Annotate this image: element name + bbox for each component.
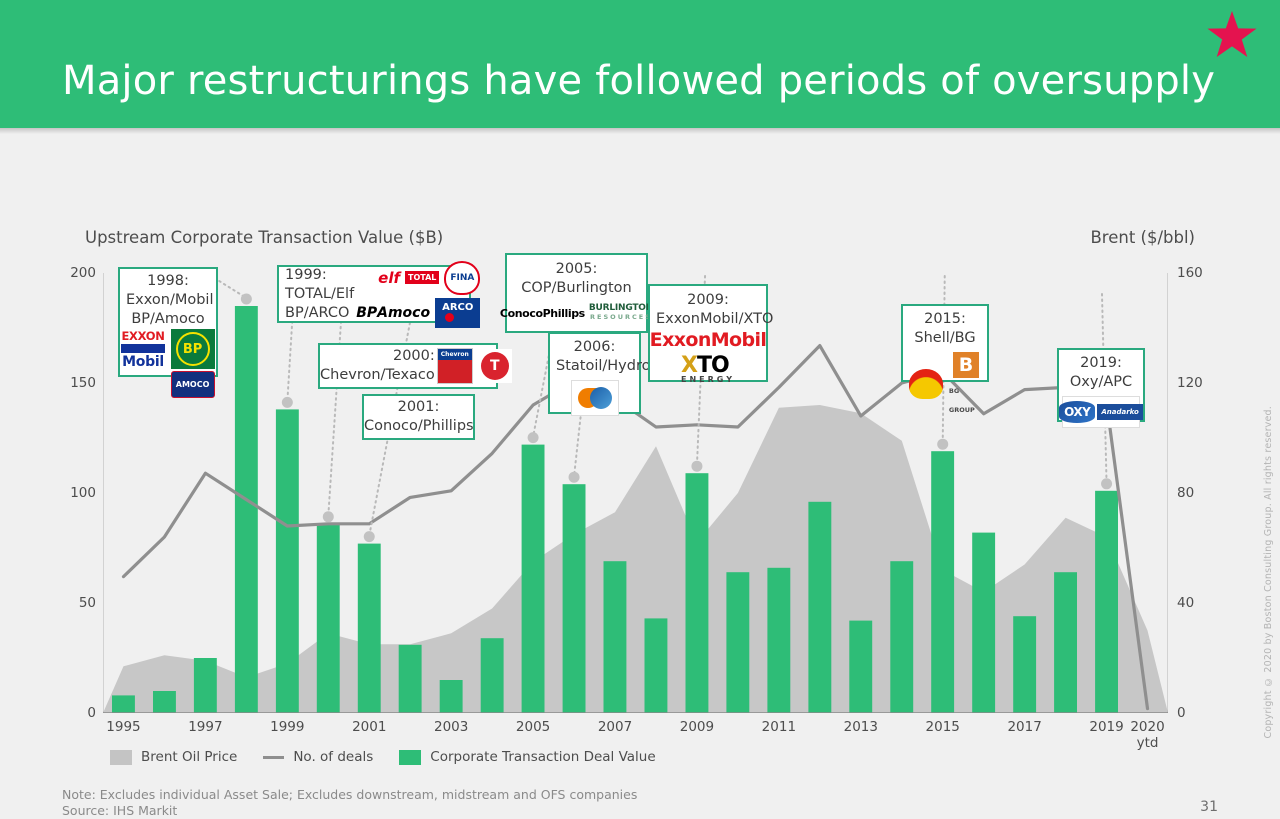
y-tick-left-200: 200 <box>56 265 96 281</box>
burlington-logo-icon: BURLINGTONRESOURCES <box>589 304 653 322</box>
callout-2019-line1: Oxy/APC <box>1070 374 1132 390</box>
page-number: 31 <box>1200 799 1218 815</box>
callout-2009-line1: ExxonMobil/XTO <box>656 311 773 327</box>
callout-2005-line1: COP/Burlington <box>521 280 631 296</box>
callout-1998-year: 1998: <box>147 273 189 289</box>
y-tick-left-50: 50 <box>56 595 96 611</box>
callout-1999-line1: TOTAL/Elf <box>285 286 354 302</box>
footnote: Note: Excludes individual Asset Sale; Ex… <box>62 787 637 819</box>
x-tick-25: 2020ytd <box>1130 719 1164 751</box>
callout-2001-year: 2001: <box>398 399 440 415</box>
copyright-notice: Copyright © 2020 by Boston Consulting Gr… <box>1263 406 1274 739</box>
chevron-logo-icon: Chevron <box>437 348 473 384</box>
callout-1999-line2: BP/ARCO <box>285 305 349 321</box>
slide-header: Major restructurings have followed perio… <box>0 0 1280 128</box>
statoil-hydro-logo-icon <box>571 380 619 416</box>
x-tick-10: 2005 <box>516 719 550 735</box>
chart-container: Upstream Corporate Transaction Value ($B… <box>0 128 1280 720</box>
exxon-mobil-logo-icon: EXXON Mobil <box>121 329 164 370</box>
x-tick-6: 2001 <box>352 719 386 735</box>
callout-2001-line1: Conoco/Phillips <box>364 418 474 434</box>
x-tick-8: 2003 <box>434 719 468 735</box>
callout-2009[interactable]: 2009: ExxonMobil/XTO ExxonMobil XTOENERG… <box>648 284 768 382</box>
callout-2015-year: 2015: <box>924 311 966 327</box>
x-tick-12: 2007 <box>598 719 632 735</box>
legend-swatch-area <box>110 750 132 765</box>
right-axis-title: Brent ($/bbl) <box>1090 228 1195 247</box>
legend-label-1: No. of deals <box>293 749 373 765</box>
arco-logo-icon: ARCO <box>435 298 480 328</box>
legend-label-2: Corporate Transaction Deal Value <box>430 749 655 765</box>
x-tick-2: 1997 <box>188 719 222 735</box>
y-tick-right-0: 0 <box>1177 705 1217 721</box>
bg-group-logo-icon: BBG GROUP <box>949 352 983 416</box>
callout-2000-year: 2000: <box>393 348 435 364</box>
y-tick-right-160: 160 <box>1177 265 1217 281</box>
x-tick-24: 2019 <box>1089 719 1123 735</box>
bp-amoco-logo-icon: BPAmoco <box>356 305 430 321</box>
footnote-source: Source: IHS Markit <box>62 803 637 819</box>
callout-2006-year: 2006: <box>574 339 616 355</box>
amoco-logo-icon: AMOCO <box>171 371 215 398</box>
callout-2019[interactable]: 2019: Oxy/APC OXYAnadarko <box>1057 348 1145 422</box>
y-tick-left-150: 150 <box>56 375 96 391</box>
bp-logo-icon: BP <box>171 329 215 369</box>
oxy-apc-logo-icon: OXYAnadarko <box>1062 396 1140 428</box>
x-tick-20: 2015 <box>926 719 960 735</box>
callout-2015[interactable]: 2015: Shell/BG BBG GROUP <box>901 304 989 382</box>
y-tick-right-80: 80 <box>1177 485 1217 501</box>
y-tick-right-120: 120 <box>1177 375 1217 391</box>
callout-2019-year: 2019: <box>1080 355 1122 371</box>
callout-1999-year: 1999: <box>285 267 327 283</box>
x-tick-18: 2013 <box>844 719 878 735</box>
legend-swatch-line <box>263 756 284 759</box>
legend-item-brent-oil-price[interactable]: Brent Oil Price <box>110 749 237 765</box>
legend-swatch-bar <box>399 750 421 765</box>
callout-1998-line1: Exxon/Mobil <box>126 292 213 308</box>
x-tick-16: 2011 <box>762 719 796 735</box>
xto-energy-logo-icon: XTOENERGY <box>681 353 735 384</box>
callout-2005-year: 2005: <box>556 261 598 277</box>
texaco-logo-icon: T <box>478 349 512 383</box>
page-title: Major restructurings have followed perio… <box>62 58 1215 104</box>
callout-2001[interactable]: 2001: Conoco/Phillips <box>362 394 475 440</box>
x-tick-0: 1995 <box>106 719 140 735</box>
total-logo-icon: TOTAL <box>405 271 439 284</box>
conocophillips-logo-icon: ConocoPhillips <box>500 307 585 320</box>
x-tick-22: 2017 <box>1007 719 1041 735</box>
star-logo-icon <box>1206 8 1258 60</box>
y-tick-right-40: 40 <box>1177 595 1217 611</box>
y-tick-left-0: 0 <box>56 705 96 721</box>
x-tick-14: 2009 <box>680 719 714 735</box>
legend-item-no-of-deals[interactable]: No. of deals <box>263 749 373 765</box>
footnote-note: Note: Excludes individual Asset Sale; Ex… <box>62 787 637 803</box>
elf-logo-icon: elf <box>378 269 400 287</box>
legend-item-deal-value[interactable]: Corporate Transaction Deal Value <box>399 749 655 765</box>
callout-1998-line2: BP/Amoco <box>131 311 204 327</box>
callout-2009-year: 2009: <box>687 292 729 308</box>
shell-logo-icon <box>907 367 945 401</box>
callout-2006[interactable]: 2006: Statoil/Hydro <box>548 332 641 414</box>
callout-2000[interactable]: 2000: Chevron/Texaco Chevron T <box>318 343 498 389</box>
callout-2005[interactable]: 2005: COP/Burlington ConocoPhillips BURL… <box>505 253 648 333</box>
legend-label-0: Brent Oil Price <box>141 749 237 765</box>
left-axis-title: Upstream Corporate Transaction Value ($B… <box>85 228 443 247</box>
y-tick-left-100: 100 <box>56 485 96 501</box>
callout-1999[interactable]: 1999: TOTAL/Elf BP/ARCO elf TOTAL FINA B… <box>277 265 471 323</box>
fina-logo-icon: FINA <box>444 261 480 295</box>
callout-2006-line1: Statoil/Hydro <box>556 358 650 374</box>
callout-2015-line1: Shell/BG <box>914 330 975 346</box>
exxonmobil-logo-icon: ExxonMobil <box>650 329 767 351</box>
x-tick-4: 1999 <box>270 719 304 735</box>
chart-legend: Brent Oil Price No. of deals Corporate T… <box>110 749 682 765</box>
callout-2000-line1: Chevron/Texaco <box>320 367 435 383</box>
callout-1998[interactable]: 1998: Exxon/Mobil BP/Amoco EXXON Mobil B… <box>118 267 218 377</box>
